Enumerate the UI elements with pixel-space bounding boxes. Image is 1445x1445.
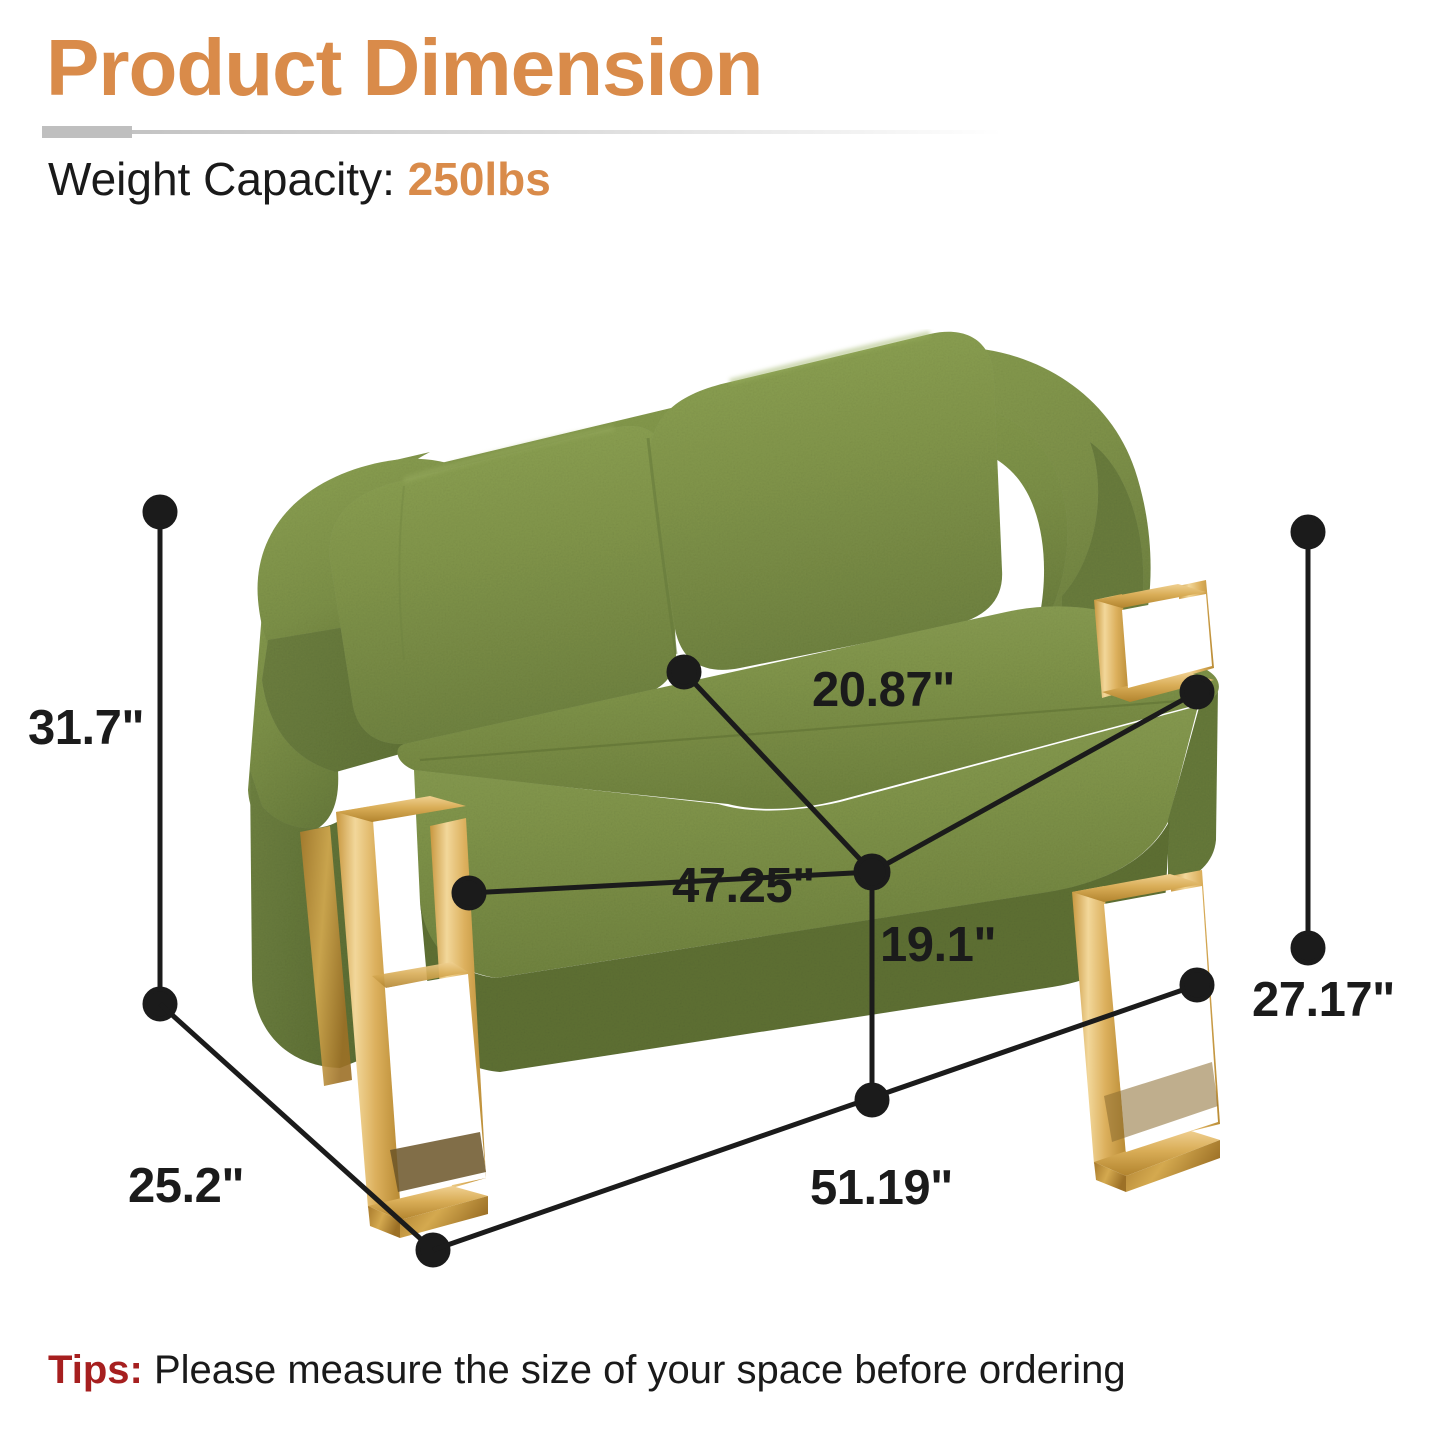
dim-label-depth-overall: 27.17" <box>1252 972 1395 1028</box>
tips-note: Tips: Please measure the size of your sp… <box>48 1348 1126 1393</box>
tips-label: Tips: <box>48 1348 143 1392</box>
dim-label-seat-width: 47.25" <box>672 858 815 914</box>
tips-text: Please measure the size of your space be… <box>143 1348 1126 1392</box>
dim-line-seat-depth-right <box>872 692 1197 872</box>
dim-label-depth-base: 25.2" <box>128 1158 244 1214</box>
dim-label-seat-depth: 20.87" <box>812 662 955 718</box>
dim-label-seat-height: 19.1" <box>880 917 996 973</box>
product-dimension-infographic: Product Dimension Weight Capacity: 250lb… <box>0 0 1445 1445</box>
dimension-lines <box>0 0 1445 1445</box>
dim-label-width-overall: 51.19" <box>810 1160 953 1216</box>
dim-label-height-overall: 31.7" <box>28 700 144 756</box>
